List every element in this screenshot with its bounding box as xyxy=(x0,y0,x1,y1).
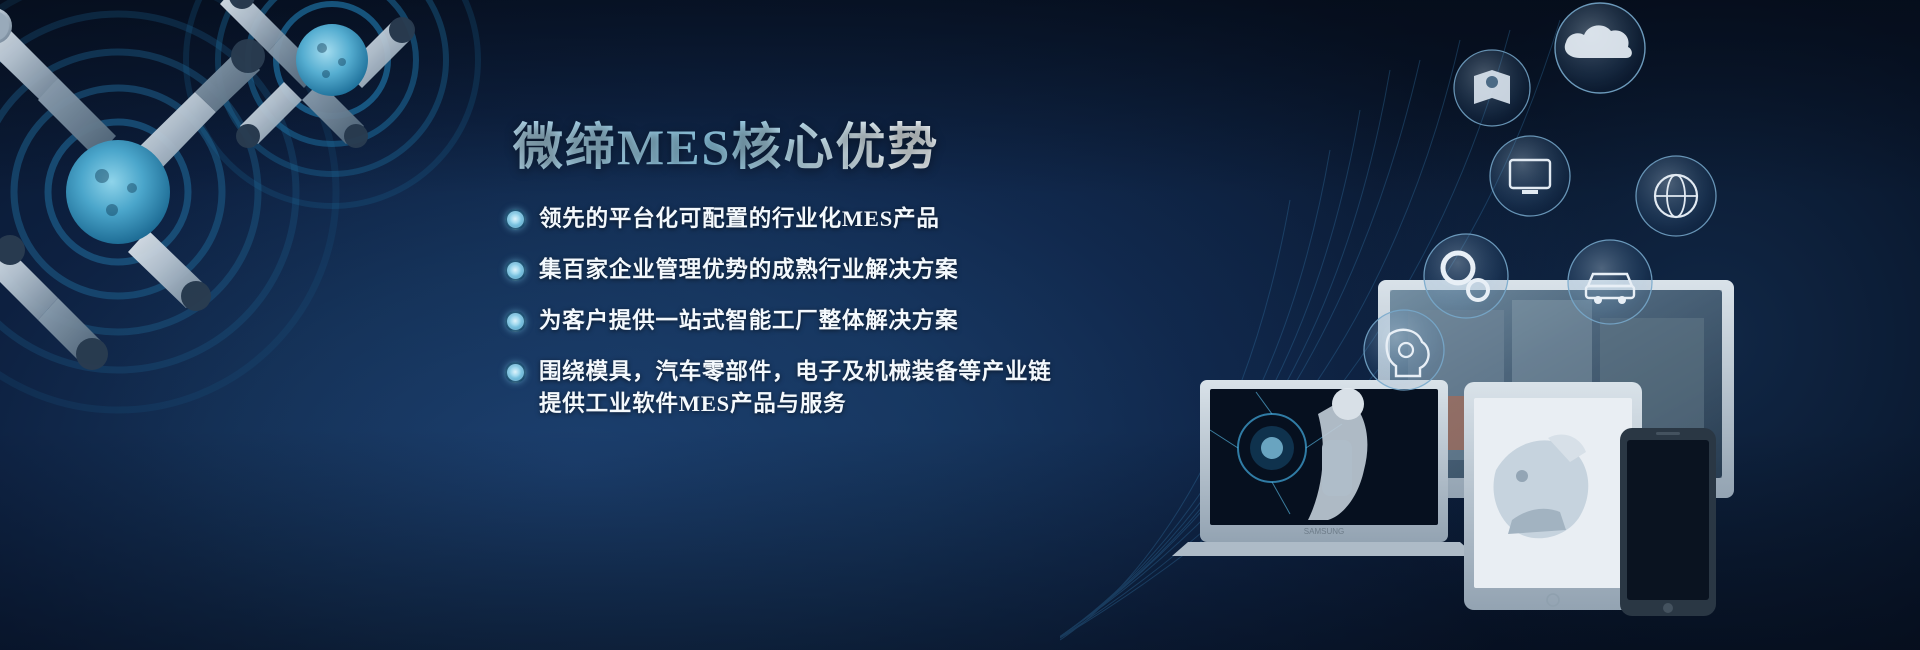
smart-factory-devices-illustration: Ć SAMSUNG xyxy=(1060,0,1920,650)
laptop: SAMSUNG xyxy=(1172,380,1476,556)
list-item: 集百家企业管理优势的成熟行业解决方案 xyxy=(505,254,1125,286)
radar-hub-right xyxy=(296,24,368,96)
car-icon xyxy=(1568,240,1652,324)
cloud-icon xyxy=(1555,3,1645,93)
list-item: 围绕模具，汽车零部件，电子及机械装备等产业链 提供工业软件MES产品与服务 xyxy=(505,356,1125,420)
bullet-dot-icon xyxy=(505,209,526,230)
mes-advantages-banner: Ć SAMSUNG xyxy=(0,0,1920,650)
list-item-label: 领先的平台化可配置的行业化MES产品 xyxy=(539,203,940,235)
list-item-label-line2: 提供工业软件MES产品与服务 xyxy=(539,388,1052,420)
bullet-dot-icon xyxy=(505,362,526,383)
radar-hub-left xyxy=(66,140,170,244)
robotic-arms-radar-illustration xyxy=(0,0,580,490)
banner-content: 微缔MES核心优势 领先的平台化可配置的行业化MES产品 集百家企业管理优势的成… xyxy=(505,118,1125,439)
advantages-list: 领先的平台化可配置的行业化MES产品 集百家企业管理优势的成熟行业解决方案 为客… xyxy=(505,203,1125,420)
list-item: 领先的平台化可配置的行业化MES产品 xyxy=(505,203,1125,235)
brain-gear-icon xyxy=(1364,310,1444,390)
bullet-dot-icon xyxy=(505,260,526,281)
globe-icon xyxy=(1636,156,1716,236)
tablet xyxy=(1464,382,1642,610)
monitor-icon xyxy=(1490,136,1570,216)
svg-text:SAMSUNG: SAMSUNG xyxy=(1304,527,1344,536)
smartphone xyxy=(1620,428,1716,616)
list-item-label: 围绕模具，汽车零部件，电子及机械装备等产业链 提供工业软件MES产品与服务 xyxy=(539,356,1052,420)
list-item-label: 为客户提供一站式智能工厂整体解决方案 xyxy=(539,305,958,337)
list-item-label-line1: 围绕模具，汽车零部件，电子及机械装备等产业链 xyxy=(539,359,1052,384)
list-item: 为客户提供一站式智能工厂整体解决方案 xyxy=(505,305,1125,337)
map-pin-icon xyxy=(1454,50,1530,126)
gears-icon xyxy=(1424,234,1508,318)
list-item-label: 集百家企业管理优势的成熟行业解决方案 xyxy=(539,254,958,286)
bullet-dot-icon xyxy=(505,311,526,332)
page-title: 微缔MES核心优势 xyxy=(513,118,1125,177)
